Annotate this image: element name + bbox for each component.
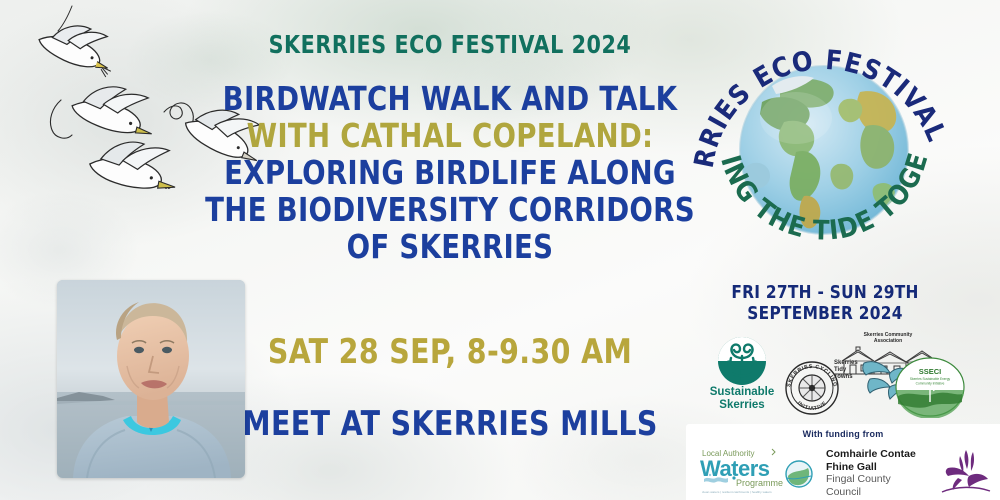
headline-line-2: WITH CATHAL COPELAND: <box>180 117 719 154</box>
waters-programme-logo: Local Authority Waters Programme clean w… <box>698 446 816 494</box>
event-location: MEET AT SKERRIES MILLS <box>180 404 719 444</box>
partner-logo-skerries-tidy-towns: Skerries Tidy Towns <box>834 360 900 424</box>
fingal-english-line-2: Council <box>826 486 936 499</box>
sustainable-skerries-label: Sustainable Skerries <box>694 386 790 412</box>
fingal-bird-icon <box>936 446 994 496</box>
waters-line3: Programme <box>736 478 783 488</box>
fingal-irish-line-2: Fhine Gall <box>826 461 936 474</box>
festival-dates-line-2: SEPTEMBER 2024 <box>706 303 944 324</box>
headline-line-1: BIRDWATCH WALK AND TALK <box>180 80 719 117</box>
partner-logo-sustainable-skerries: Sustainable Skerries <box>694 336 790 412</box>
sseci-acronym: SSECI <box>919 367 942 376</box>
headline-line-5: OF SKERRIES <box>180 228 719 265</box>
fingal-irish-line-1: Comhairle Contae <box>826 448 936 461</box>
headline-line-3: EXPLORING BIRDLIFE ALONG <box>180 154 719 191</box>
speaker-photo <box>57 280 245 478</box>
funding-title: With funding from <box>686 429 1000 439</box>
waters-strapline: clean waters | resilient catchments | he… <box>702 490 772 494</box>
headline-line-4: THE BIODIVERSITY CORRIDORS <box>180 191 719 228</box>
festival-eyebrow: SKERRIES ECO FESTIVAL 2024 <box>192 30 707 59</box>
sseci-icon: SSECI Skerries Sustainable Energy Commun… <box>894 356 966 418</box>
partner-logos: Sustainable Skerries SKERRI <box>688 334 988 426</box>
festival-logo: SKERRIES ECO FESTIVAL 2024 TURNING THE T… <box>688 14 960 276</box>
event-headline: BIRDWATCH WALK AND TALK WITH CATHAL COPE… <box>160 80 740 265</box>
partner-logo-sseci: SSECI Skerries Sustainable Energy Commun… <box>894 356 966 418</box>
sustainable-skerries-icon <box>694 336 790 386</box>
svg-text:Skerries Sustainable Energy: Skerries Sustainable Energy <box>910 377 951 381</box>
fingal-county-council-text: Comhairle Contae Fhine Gall Fingal Count… <box>826 448 936 498</box>
svg-text:Community Initiative: Community Initiative <box>916 382 945 386</box>
festival-dates-line-1: FRI 27TH - SUN 29TH <box>706 282 944 303</box>
event-poster: SKERRIES ECO FESTIVAL 2024 BIRDWATCH WAL… <box>0 0 1000 500</box>
festival-dates: FRI 27TH - SUN 29TH SEPTEMBER 2024 <box>700 282 950 324</box>
funding-panel: With funding from Local Authority Waters… <box>686 424 1000 500</box>
svg-text:INITIATIVE: INITIATIVE <box>796 401 829 412</box>
sca-label: Skerries Community Association <box>828 332 948 344</box>
fingal-english-line-1: Fingal County <box>826 473 936 486</box>
event-datetime: SAT 28 SEP, 8-9.30 AM <box>180 332 719 372</box>
